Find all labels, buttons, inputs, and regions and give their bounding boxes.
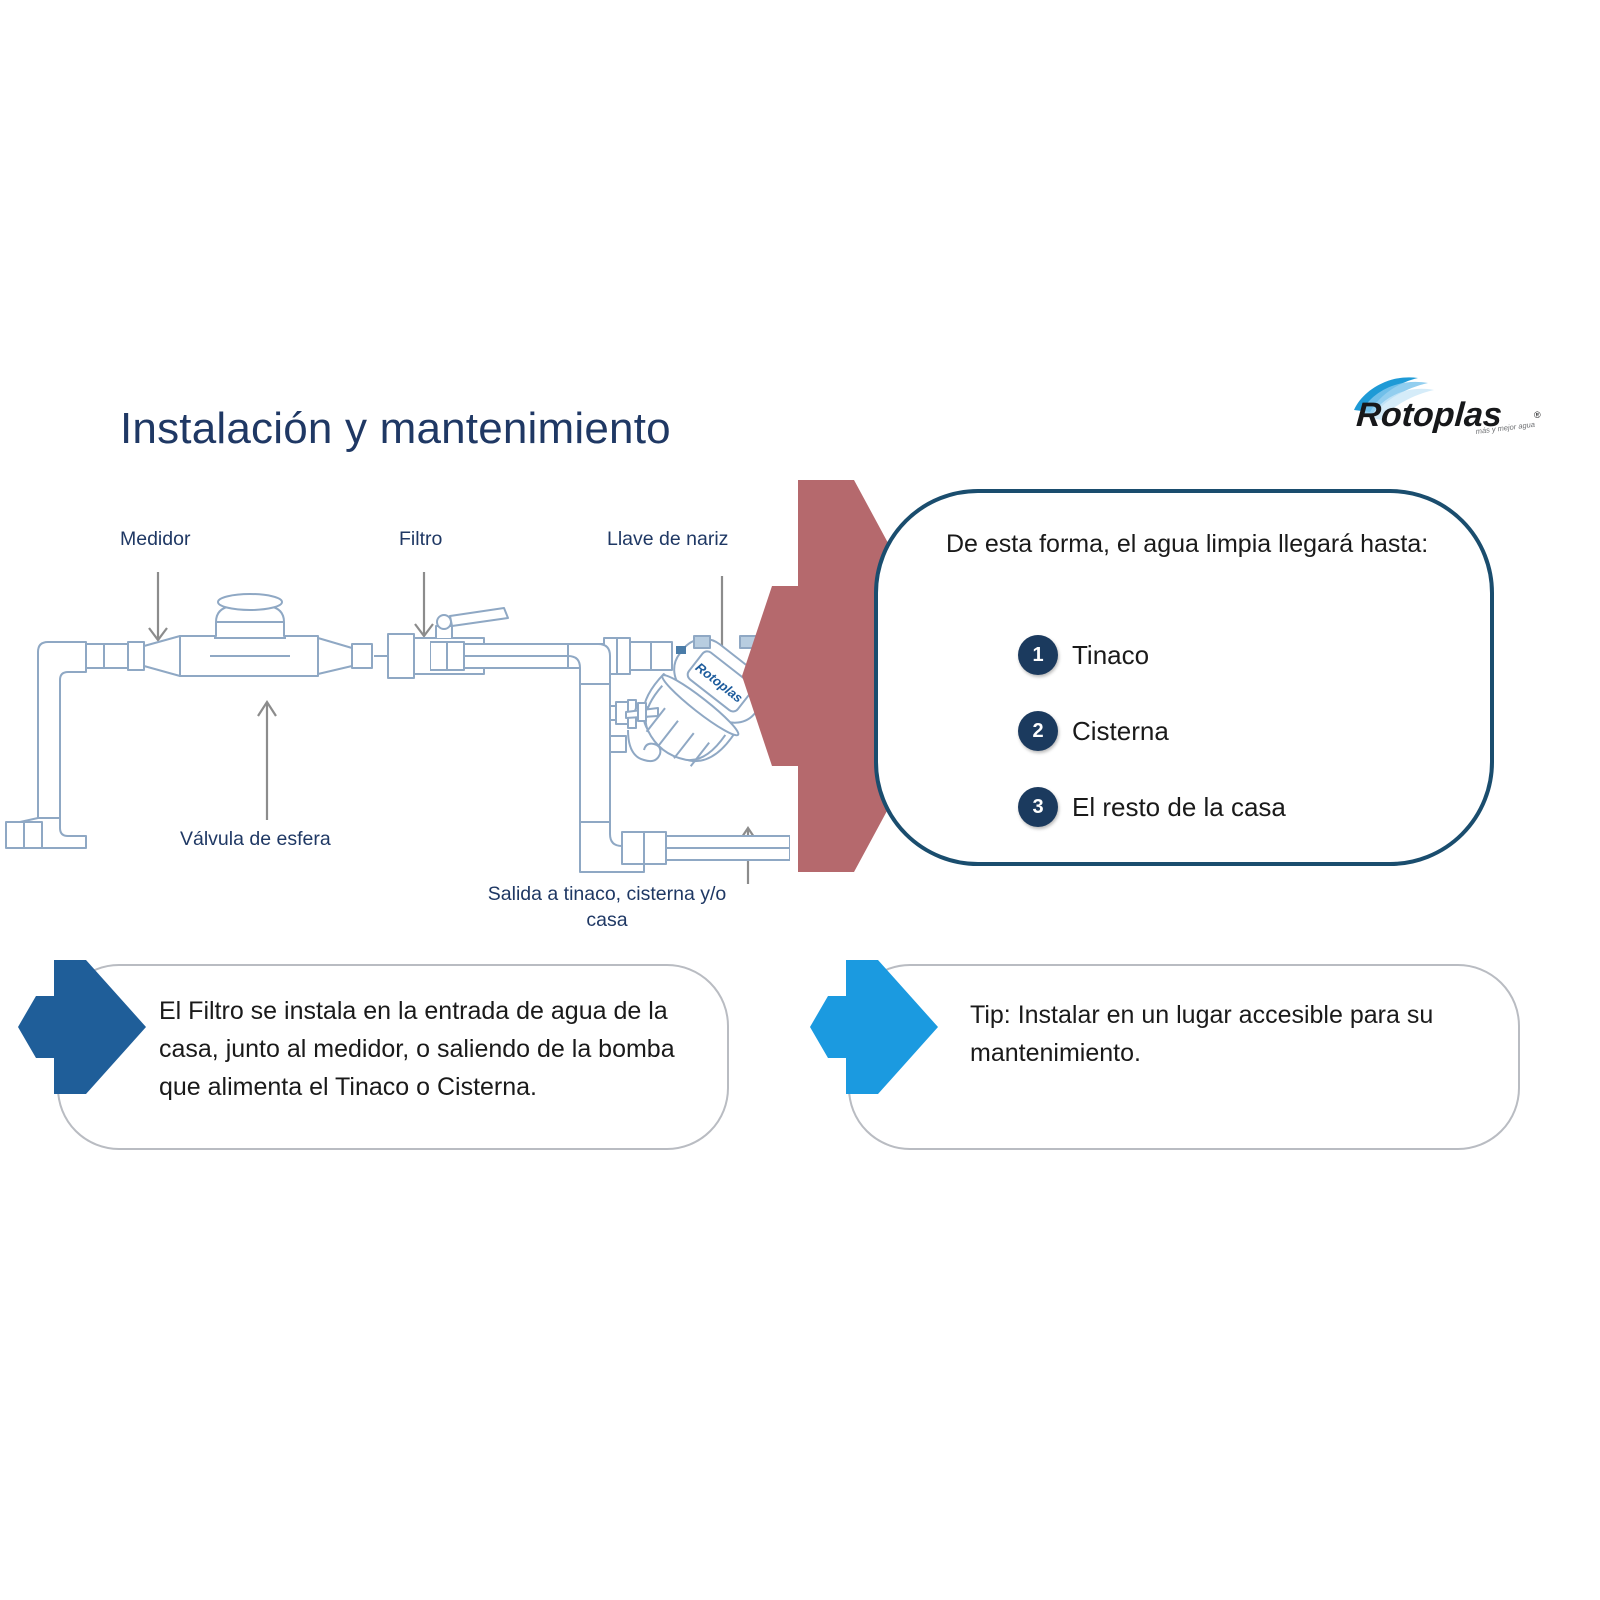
list-item: 1 Tinaco xyxy=(1018,617,1478,693)
rotoplas-logo: Rotoplas ® más y mejor agua xyxy=(1348,366,1556,438)
main-callout-heading: De esta forma, el agua limpia llegará ha… xyxy=(946,526,1486,563)
pipe-vertical-right xyxy=(580,684,610,822)
list-item-label: El resto de la casa xyxy=(1072,792,1286,823)
pipe-to-meter xyxy=(86,636,180,676)
pipe-elbow-top xyxy=(568,644,610,684)
maintenance-tip-text: Tip: Instalar en un lugar accesible para… xyxy=(970,996,1515,1072)
hose-bib-faucet xyxy=(610,700,660,761)
faucet-spout xyxy=(628,730,660,761)
water-meter xyxy=(180,594,318,676)
right-pointing-pentagon-arrow-icon xyxy=(18,960,146,1094)
maintenance-tip-callout-box: Tip: Instalar en un lugar accesible para… xyxy=(848,964,1520,1150)
list-item-label: Cisterna xyxy=(1072,716,1169,747)
install-location-callout-arrow xyxy=(18,960,146,1094)
install-location-text: El Filtro se instala en la entrada de ag… xyxy=(159,992,704,1106)
install-location-callout-box: El Filtro se instala en la entrada de ag… xyxy=(57,964,729,1150)
rotoplas-wave-logo-icon: Rotoplas ® más y mejor agua xyxy=(1348,366,1556,438)
list-item: 3 El resto de la casa xyxy=(1018,769,1478,845)
right-pointing-pentagon-arrow-icon xyxy=(810,960,938,1094)
plumbing-line-art-right xyxy=(430,560,790,880)
maintenance-tip-callout-arrow xyxy=(810,960,938,1094)
slide-canvas: Instalación y mantenimiento Rotoplas ® m… xyxy=(0,0,1600,1600)
list-item-label: Tinaco xyxy=(1072,640,1149,671)
status-badge: 1 xyxy=(1018,635,1058,675)
page-title: Instalación y mantenimiento xyxy=(120,404,671,454)
status-badge: 3 xyxy=(1018,787,1058,827)
main-callout-box: De esta forma, el agua limpia llegará ha… xyxy=(874,489,1494,866)
list-item: 2 Cisterna xyxy=(1018,693,1478,769)
main-callout-list: 1 Tinaco 2 Cisterna 3 El resto de la cas… xyxy=(1018,617,1478,845)
pipe-meter-to-valve xyxy=(318,638,388,674)
status-badge: 2 xyxy=(1018,711,1058,751)
registered-mark: ® xyxy=(1534,410,1541,420)
pipe-inlet-left xyxy=(6,642,86,848)
